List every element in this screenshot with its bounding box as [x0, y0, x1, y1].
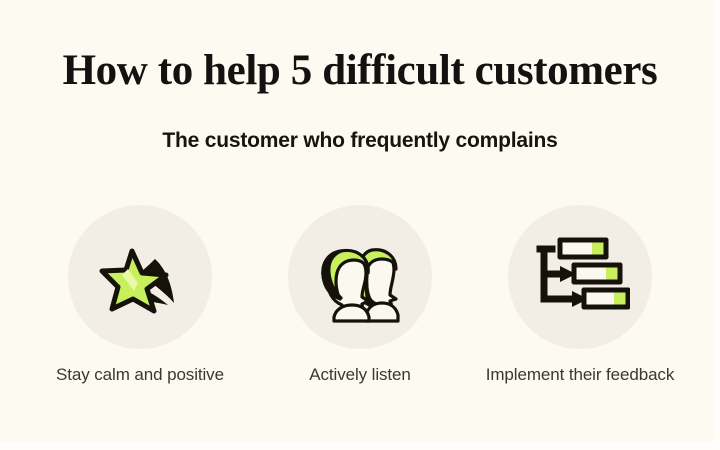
- tip-card: Implement their feedback: [508, 205, 652, 386]
- two-people-listening-icon: [310, 229, 410, 325]
- tip-caption: Stay calm and positive: [40, 363, 240, 386]
- shooting-star-icon: [92, 229, 188, 325]
- slide-canvas: How to help 5 difficult customers The cu…: [0, 0, 720, 450]
- page-title: How to help 5 difficult customers: [0, 47, 720, 95]
- tip-card: Actively listen: [288, 205, 432, 386]
- tip-caption: Implement their feedback: [480, 363, 680, 386]
- tip-card: Stay calm and positive: [68, 205, 212, 386]
- icon-circle: [68, 205, 212, 349]
- tip-caption: Actively listen: [260, 363, 460, 386]
- page-subtitle: The customer who frequently complains: [0, 127, 720, 155]
- tips-row: Stay calm and positive: [0, 205, 720, 386]
- flowchart-bars-icon: [530, 235, 630, 319]
- icon-circle: [508, 205, 652, 349]
- icon-circle: [288, 205, 432, 349]
